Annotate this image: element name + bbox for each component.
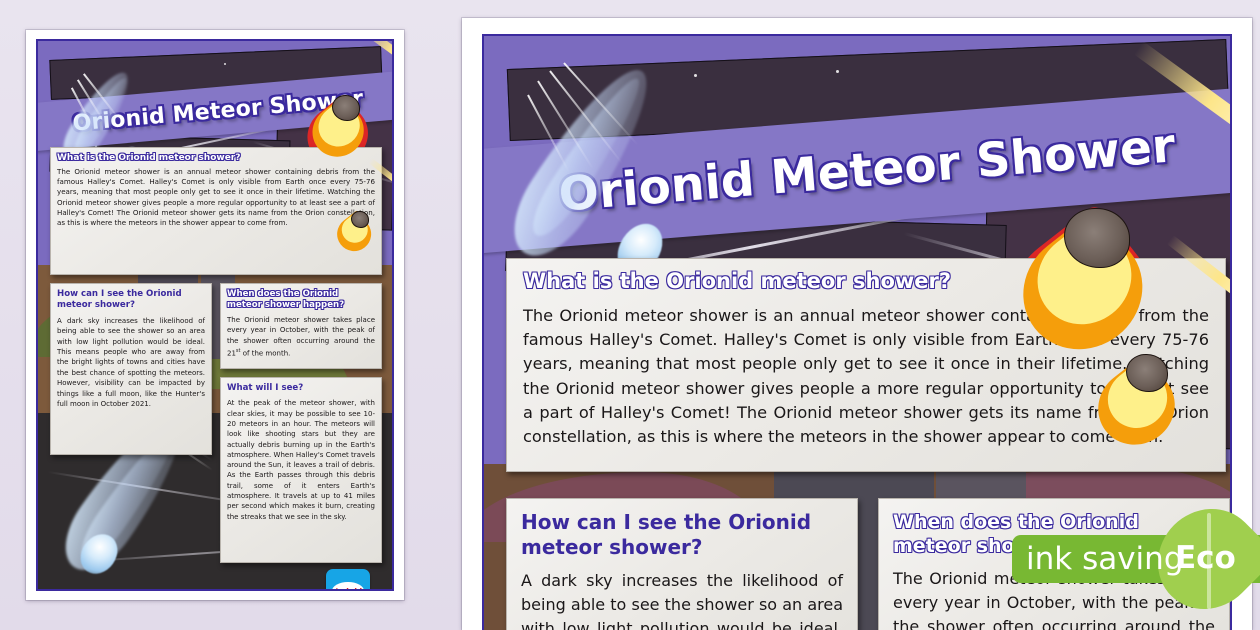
body-tail: of the month.: [241, 350, 291, 358]
card-what-is[interactable]: What is the Orionid meteor shower? The O…: [506, 258, 1226, 472]
card-heading: How can I see the Orionid meteor shower?: [57, 289, 205, 312]
star: [694, 74, 697, 77]
card-heading: When does the Orionid meteor shower happ…: [227, 289, 375, 311]
poster-thumbnail-paper[interactable]: Orionid Meteor Shower: [26, 30, 404, 600]
card-heading: What is the Orionid meteor shower?: [57, 152, 375, 164]
eco-leaf-label: Eco: [1175, 541, 1236, 575]
card-heading: What will I see?: [227, 383, 375, 394]
star: [1059, 246, 1063, 250]
card-what-is[interactable]: What is the Orionid meteor shower? The O…: [50, 147, 382, 275]
card-body: The Orionid meteor shower is an annual m…: [523, 304, 1209, 449]
star: [224, 63, 226, 65]
card-heading: What is the Orionid meteor shower?: [523, 268, 1209, 295]
card-body: At the peak of the meteor shower, with c…: [227, 398, 375, 522]
card-what-will-i-see[interactable]: What will I see? At the peak of the mete…: [220, 377, 382, 563]
poster-thumbnail-frame: Orionid Meteor Shower: [36, 39, 394, 591]
twinkl-logo[interactable]: twinkl: [326, 569, 370, 589]
card-when-does[interactable]: When does the Orionid meteor shower happ…: [220, 283, 382, 369]
screenshot-stage: Orionid Meteor Shower: [0, 0, 1260, 630]
star: [836, 70, 839, 73]
card-body: A dark sky increases the likelihood of b…: [521, 569, 843, 630]
twinkl-wordmark: twinkl: [335, 587, 362, 590]
card-body-lead: The Orionid meteor shower takes place ev…: [227, 316, 375, 345]
eco-band-label: ink saving: [1026, 542, 1184, 576]
card-how-can-i-see[interactable]: How can I see the Orionid meteor shower?…: [506, 498, 858, 630]
day-number: 21: [227, 350, 236, 358]
card-body: The Orionid meteor shower takes place ev…: [227, 315, 375, 359]
card-heading: How can I see the Orionid meteor shower?: [521, 510, 843, 560]
ink-saving-eco-badge: ink saving Eco: [1012, 529, 1260, 589]
card-body: A dark sky increases the likelihood of b…: [57, 316, 205, 410]
card-body: The Orionid meteor shower is an annual m…: [57, 167, 375, 228]
card-how-can-i-see[interactable]: How can I see the Orionid meteor shower?…: [50, 283, 212, 455]
